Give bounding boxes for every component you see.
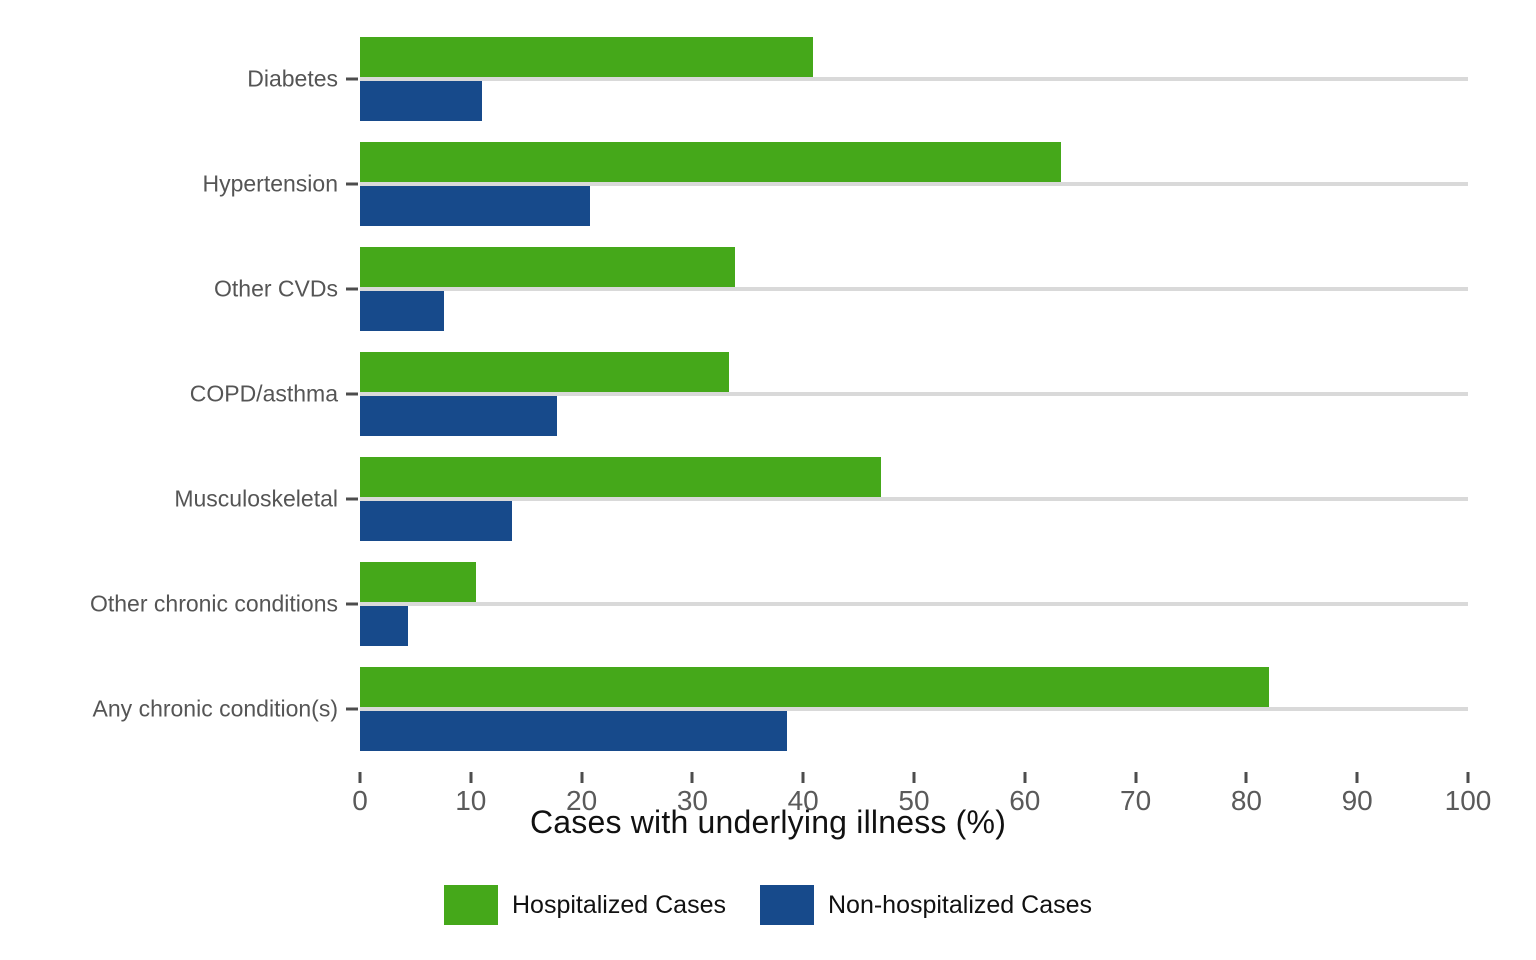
gridline <box>360 287 1468 291</box>
bar <box>360 457 881 497</box>
gridline <box>360 602 1468 606</box>
y-axis-category-label: Any chronic condition(s) <box>93 696 338 723</box>
x-axis-tick <box>580 772 583 783</box>
bar <box>360 667 1269 707</box>
bar <box>360 562 476 602</box>
legend-swatch <box>760 885 814 925</box>
y-axis-tick <box>346 708 358 711</box>
legend-label: Hospitalized Cases <box>512 891 726 920</box>
bar <box>360 711 787 751</box>
gridline <box>360 77 1468 81</box>
y-axis-category-label: Hypertension <box>202 171 338 198</box>
y-axis-tick <box>346 288 358 291</box>
legend-swatch <box>444 885 498 925</box>
y-axis-tick <box>346 183 358 186</box>
y-axis-tick <box>346 78 358 81</box>
bar <box>360 37 813 77</box>
chart-legend: Hospitalized CasesNon-hospitalized Cases <box>0 885 1536 925</box>
bar-chart: DiabetesHypertensionOther CVDsCOPD/asthm… <box>0 0 1536 960</box>
bar <box>360 186 590 226</box>
x-axis-tick <box>1245 772 1248 783</box>
x-axis-tick <box>1467 772 1470 783</box>
bar <box>360 247 735 287</box>
x-axis-tick <box>1356 772 1359 783</box>
bar <box>360 501 512 541</box>
x-axis-tick <box>359 772 362 783</box>
gridline <box>360 497 1468 501</box>
bar <box>360 291 444 331</box>
legend-entry[interactable]: Hospitalized Cases <box>444 885 726 925</box>
x-axis-title: Cases with underlying illness (%) <box>0 804 1536 841</box>
x-axis-tick <box>1023 772 1026 783</box>
y-axis-category-label: Diabetes <box>247 66 338 93</box>
y-axis-category-label: Other CVDs <box>214 276 338 303</box>
x-axis-tick <box>802 772 805 783</box>
bar <box>360 81 482 121</box>
y-axis-category-label: COPD/asthma <box>190 381 338 408</box>
bar <box>360 606 408 646</box>
bar <box>360 352 729 392</box>
bar <box>360 142 1061 182</box>
x-axis-tick <box>469 772 472 783</box>
y-axis-category-label: Musculoskeletal <box>174 486 338 513</box>
plot-area <box>360 24 1468 768</box>
x-axis-tick <box>691 772 694 783</box>
y-axis-tick <box>346 393 358 396</box>
y-axis-tick <box>346 498 358 501</box>
y-axis-tick <box>346 603 358 606</box>
bar <box>360 396 557 436</box>
x-axis-tick <box>1134 772 1137 783</box>
x-axis-tick <box>913 772 916 783</box>
legend-label: Non-hospitalized Cases <box>828 891 1092 920</box>
legend-entry[interactable]: Non-hospitalized Cases <box>760 885 1092 925</box>
y-axis-category-label: Other chronic conditions <box>90 591 338 618</box>
